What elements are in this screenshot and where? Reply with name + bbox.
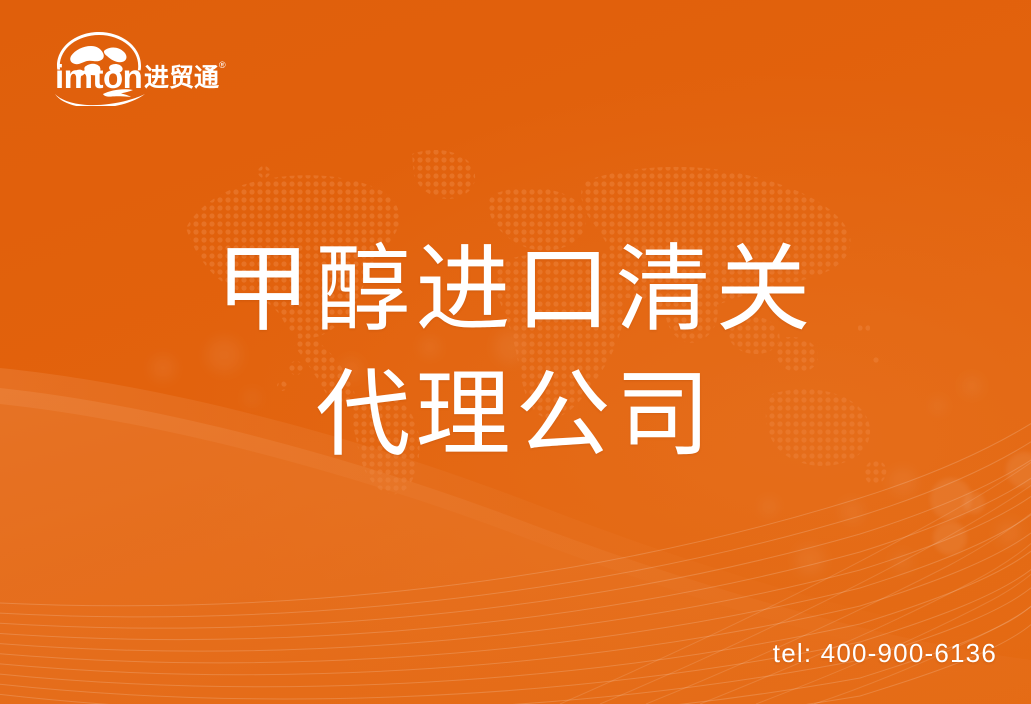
headline-line-2: 代理公司 <box>0 353 1031 478</box>
svg-text:进贸通: 进贸通 <box>144 64 219 92</box>
poster-canvas: imton 进贸通 ® 甲醇进口清关 代理公司 tel: 400-900-613… <box>0 0 1031 704</box>
contact-phone[interactable]: tel: 400-900-6136 <box>773 638 997 669</box>
svg-text:®: ® <box>219 60 226 70</box>
brand-logo[interactable]: imton 进贸通 ® <box>41 24 231 106</box>
headline-line-1: 甲醇进口清关 <box>0 228 1031 353</box>
headline-block: 甲醇进口清关 代理公司 <box>0 228 1031 478</box>
